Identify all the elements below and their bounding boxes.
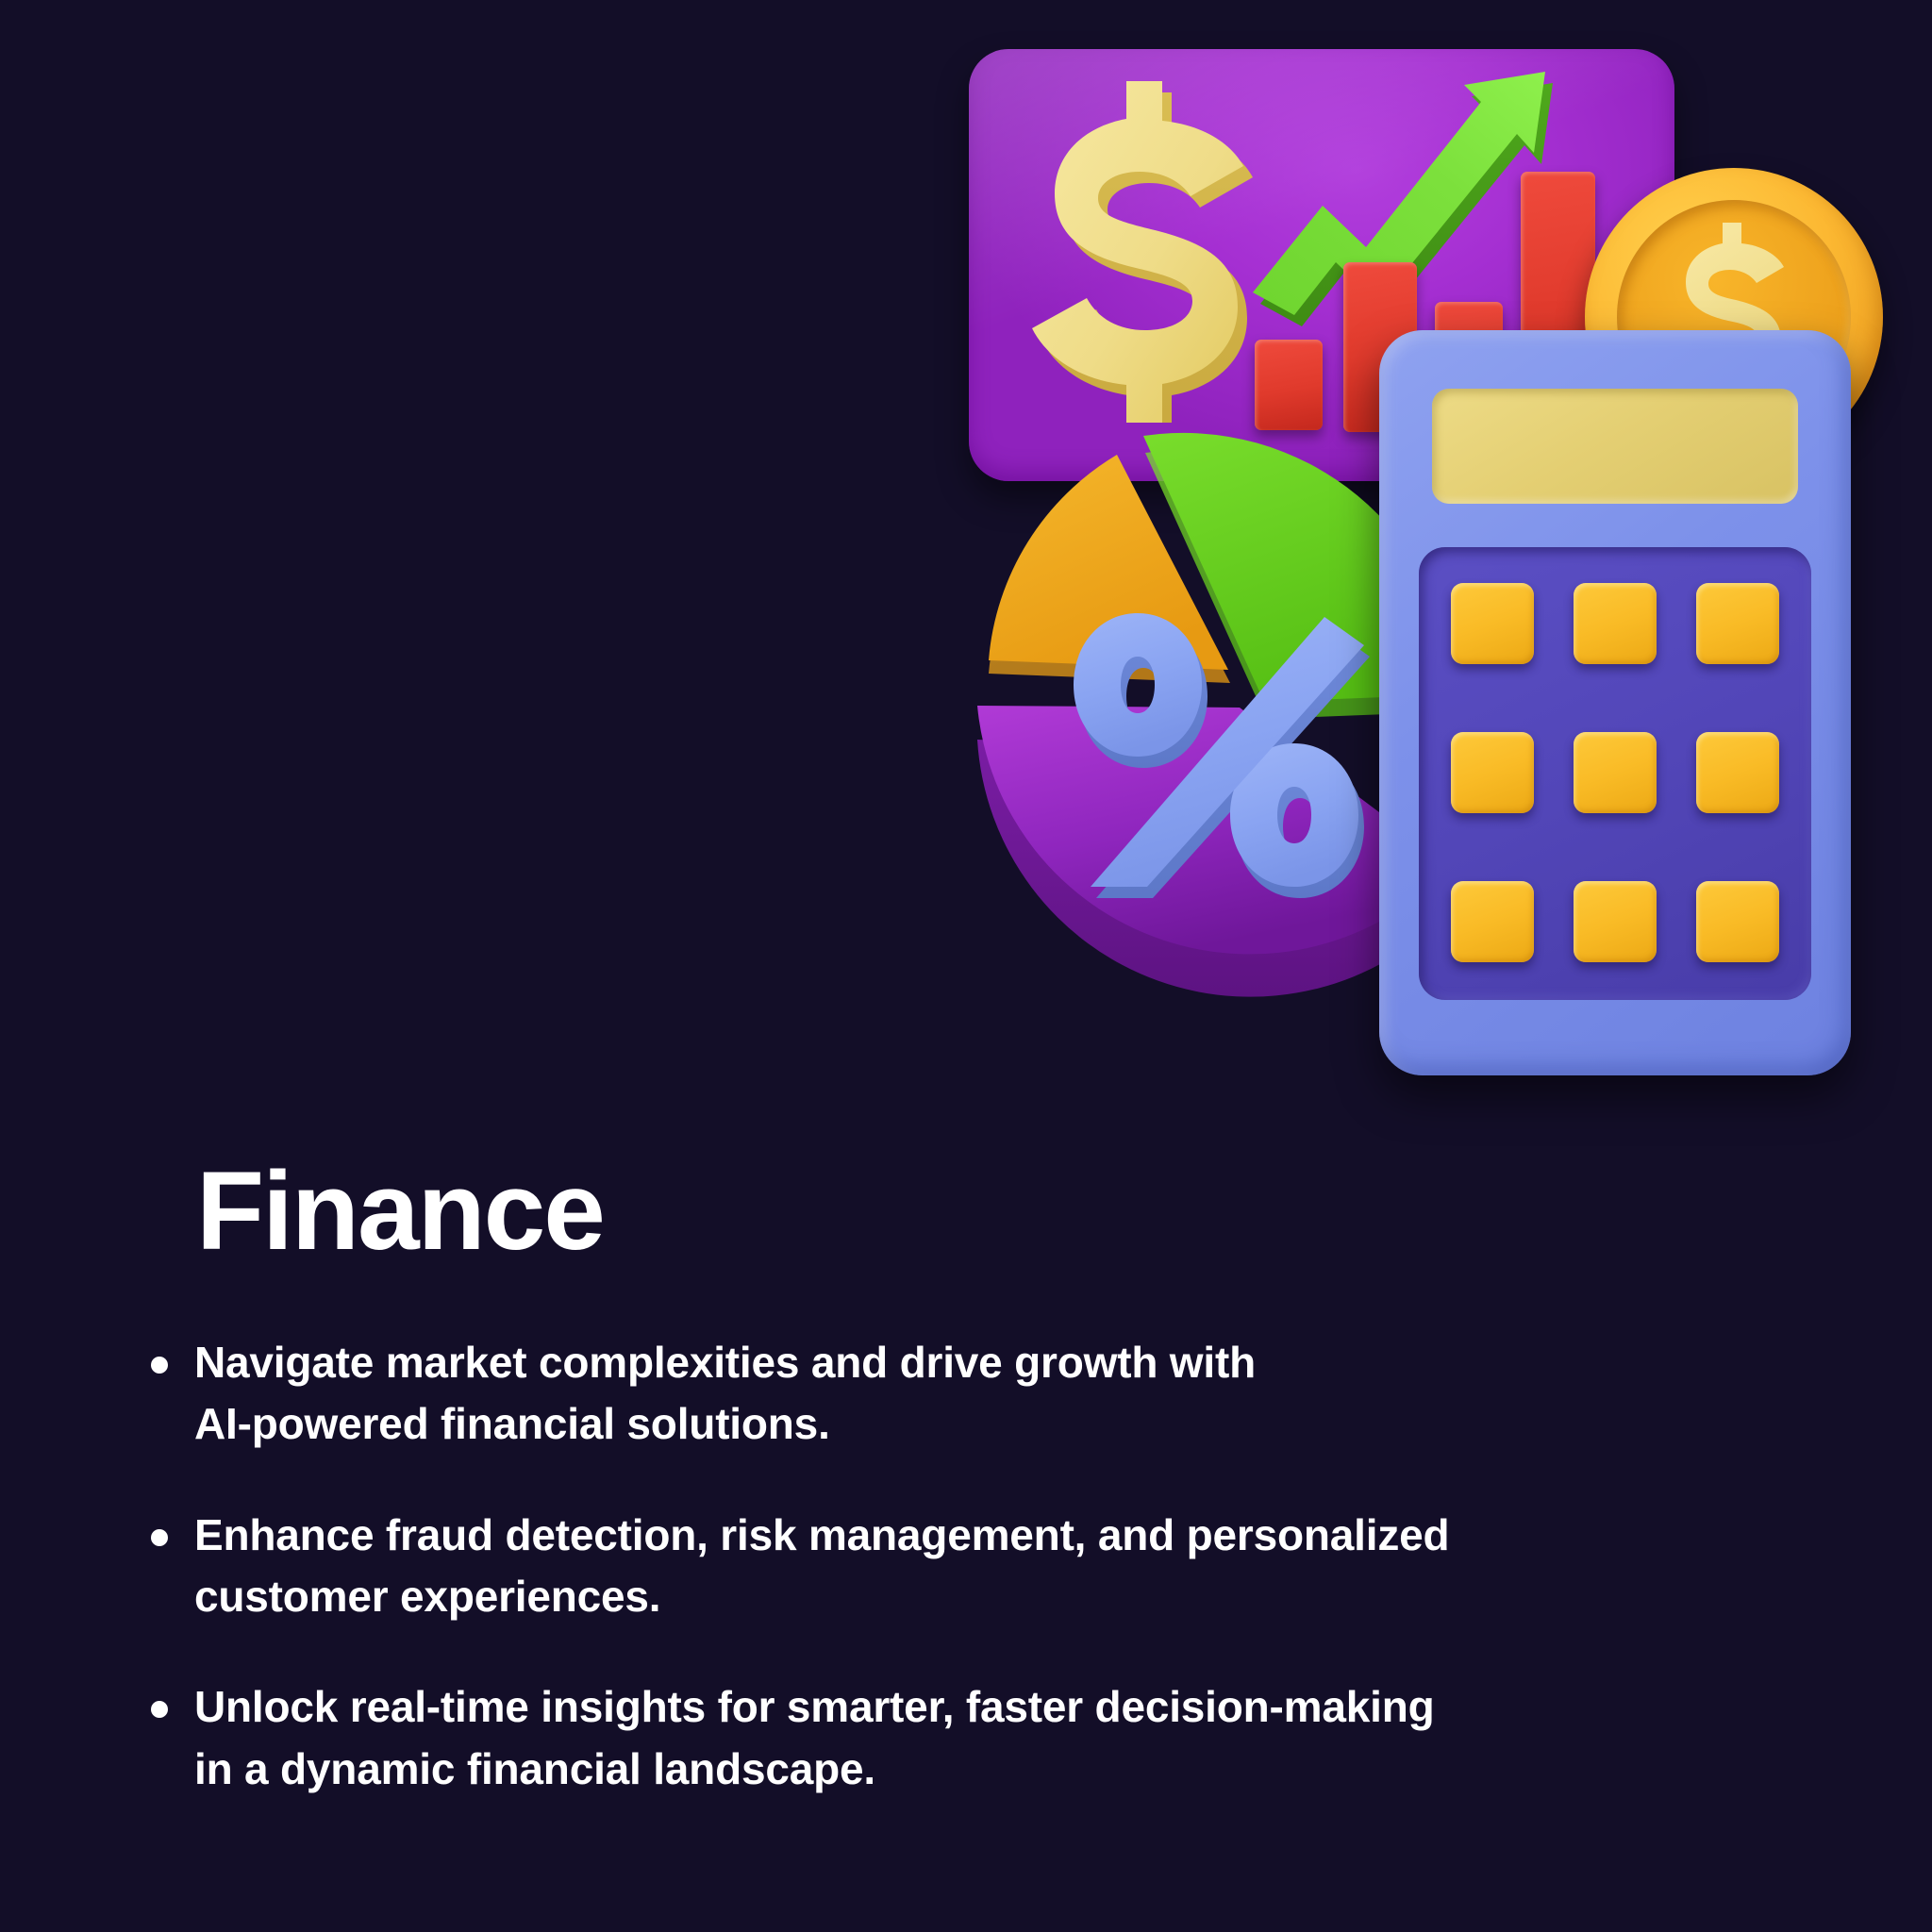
calculator-key	[1696, 583, 1779, 664]
calculator-key	[1451, 583, 1534, 664]
bullet-list: Navigate market complexities and drive g…	[151, 1332, 1840, 1849]
calculator-key	[1574, 583, 1657, 664]
finance-slide: Finance Navigate market complexities and…	[0, 0, 1932, 1932]
dollar-sign-icon	[1017, 74, 1272, 423]
bar-chart-bar	[1255, 340, 1323, 430]
calculator-display	[1432, 389, 1798, 504]
calculator-key	[1574, 732, 1657, 813]
list-item-text: Enhance fraud detection, risk management…	[194, 1505, 1840, 1628]
bullet-dot-icon	[151, 1357, 168, 1374]
calculator-key	[1696, 732, 1779, 813]
list-item: Enhance fraud detection, risk management…	[151, 1505, 1840, 1628]
page-title: Finance	[196, 1156, 604, 1267]
list-item: Navigate market complexities and drive g…	[151, 1332, 1840, 1456]
calculator-key	[1451, 732, 1534, 813]
list-item-text: Unlock real-time insights for smarter, f…	[194, 1676, 1840, 1800]
finance-3d-illustration	[943, 28, 1906, 1075]
calculator-keypad	[1419, 547, 1811, 1000]
calculator-key	[1696, 881, 1779, 962]
list-item-text: Navigate market complexities and drive g…	[194, 1332, 1840, 1456]
calculator-icon	[1379, 330, 1851, 1075]
bullet-dot-icon	[151, 1701, 168, 1718]
list-item: Unlock real-time insights for smarter, f…	[151, 1676, 1840, 1800]
bullet-dot-icon	[151, 1529, 168, 1546]
calculator-key	[1574, 881, 1657, 962]
calculator-key	[1451, 881, 1534, 962]
percent-symbol-icon	[1068, 604, 1379, 915]
